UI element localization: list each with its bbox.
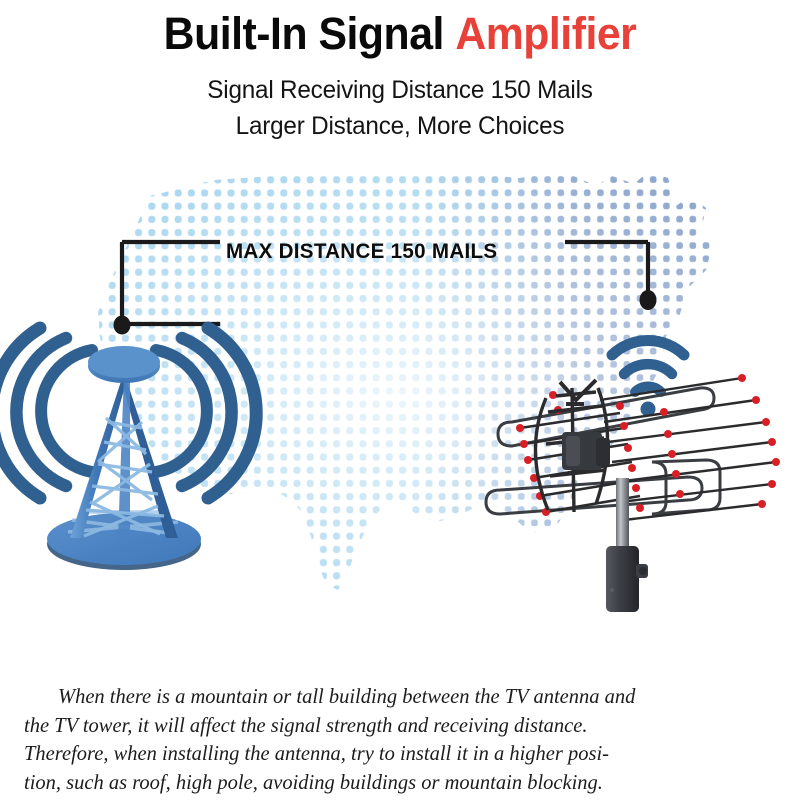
caption-line-2: the TV tower, it will affect the signal … bbox=[24, 712, 780, 741]
caption-line-1: When there is a mountain or tall buildin… bbox=[24, 683, 780, 712]
title-accent-part: Amplifier bbox=[455, 8, 636, 59]
title-black-part: Built-In Signal bbox=[164, 8, 444, 59]
footer-caption: When there is a mountain or tall buildin… bbox=[24, 683, 780, 797]
antenna-mast bbox=[616, 478, 629, 550]
callout-dot-left bbox=[114, 316, 131, 335]
header-block: Built-In Signal Amplifier Signal Receivi… bbox=[0, 0, 800, 142]
infographic-page: Built-In Signal Amplifier Signal Receivi… bbox=[0, 0, 800, 800]
max-distance-label: MAX DISTANCE 150 MAILS bbox=[226, 240, 497, 264]
subtitle-line-2: Larger Distance, More Choices bbox=[12, 110, 788, 142]
caption-line-3: Therefore, when installing the antenna, … bbox=[24, 740, 780, 769]
broadcast-tower bbox=[0, 328, 256, 570]
subtitle-line-1: Signal Receiving Distance 150 Mails bbox=[12, 74, 788, 106]
page-title: Built-In Signal Amplifier bbox=[20, 6, 780, 62]
caption-line-4: tion, such as roof, high pole, avoiding … bbox=[24, 769, 780, 798]
antenna-rotor-motor bbox=[606, 546, 648, 612]
diagram-stage bbox=[0, 160, 800, 670]
callout-dot-right bbox=[640, 290, 657, 310]
